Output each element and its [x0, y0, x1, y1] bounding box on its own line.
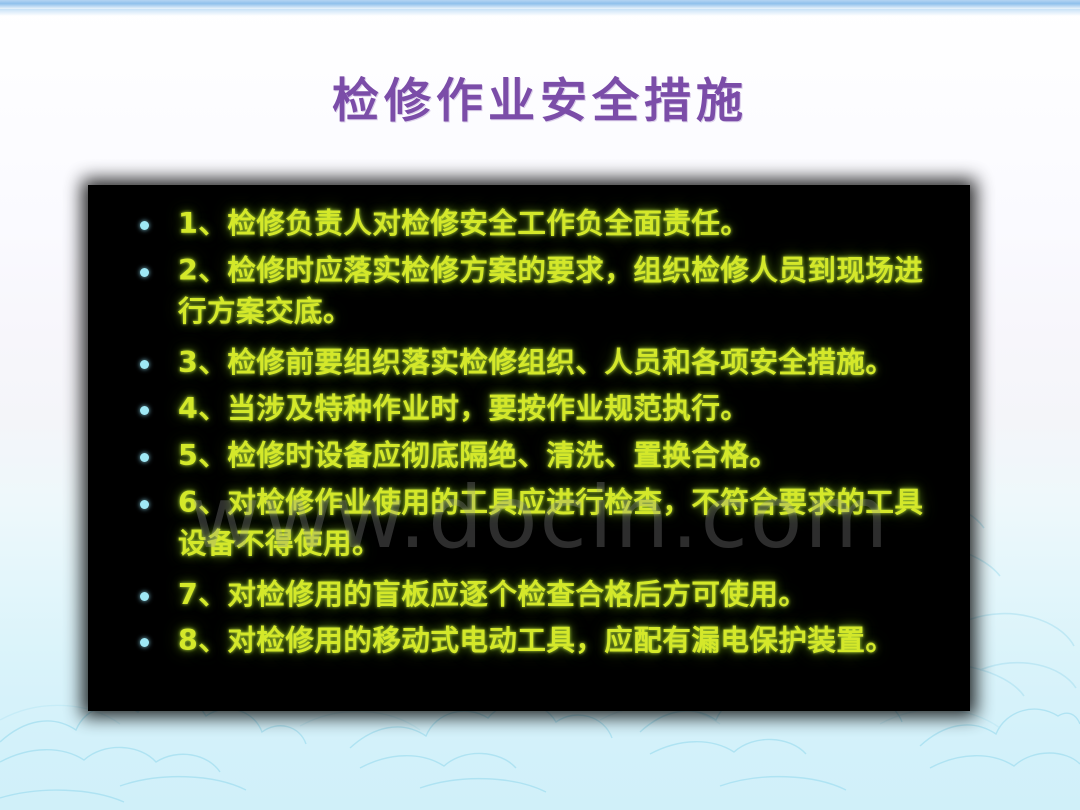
list-item: 1、检修负责人对检修安全工作负全面责任。: [112, 203, 946, 245]
content-box: 1、检修负责人对检修安全工作负全面责任。 2、检修时应落实检修方案的要求，组织检…: [88, 185, 970, 711]
page-title: 检修作业安全措施: [0, 62, 1080, 131]
list-item: 8、对检修用的移动式电动工具，应配有漏电保护装置。: [112, 620, 946, 662]
list-item: 2、检修时应落实检修方案的要求，组织检修人员到现场进行方案交底。: [112, 250, 946, 333]
top-accent-band-fade: [0, 9, 1080, 16]
presentation-slide: 检修作业安全措施 1、检修负责人对检修安全工作负全面责任。 2、检修时应落实检修…: [0, 0, 1080, 810]
top-accent-band: [0, 0, 1080, 9]
list-item: 5、检修时设备应彻底隔绝、清洗、置换合格。: [112, 435, 946, 477]
list-item: 3、检修前要组织落实检修组织、人员和各项安全措施。: [112, 342, 946, 384]
list-item: 4、当涉及特种作业时，要按作业规范执行。: [112, 388, 946, 430]
safety-measures-list: 1、检修负责人对检修安全工作负全面责任。 2、检修时应落实检修方案的要求，组织检…: [112, 203, 946, 662]
list-item: 6、对检修作业使用的工具应进行检查，不符合要求的工具设备不得使用。: [112, 482, 946, 565]
list-item: 7、对检修用的盲板应逐个检查合格后方可使用。: [112, 574, 946, 616]
